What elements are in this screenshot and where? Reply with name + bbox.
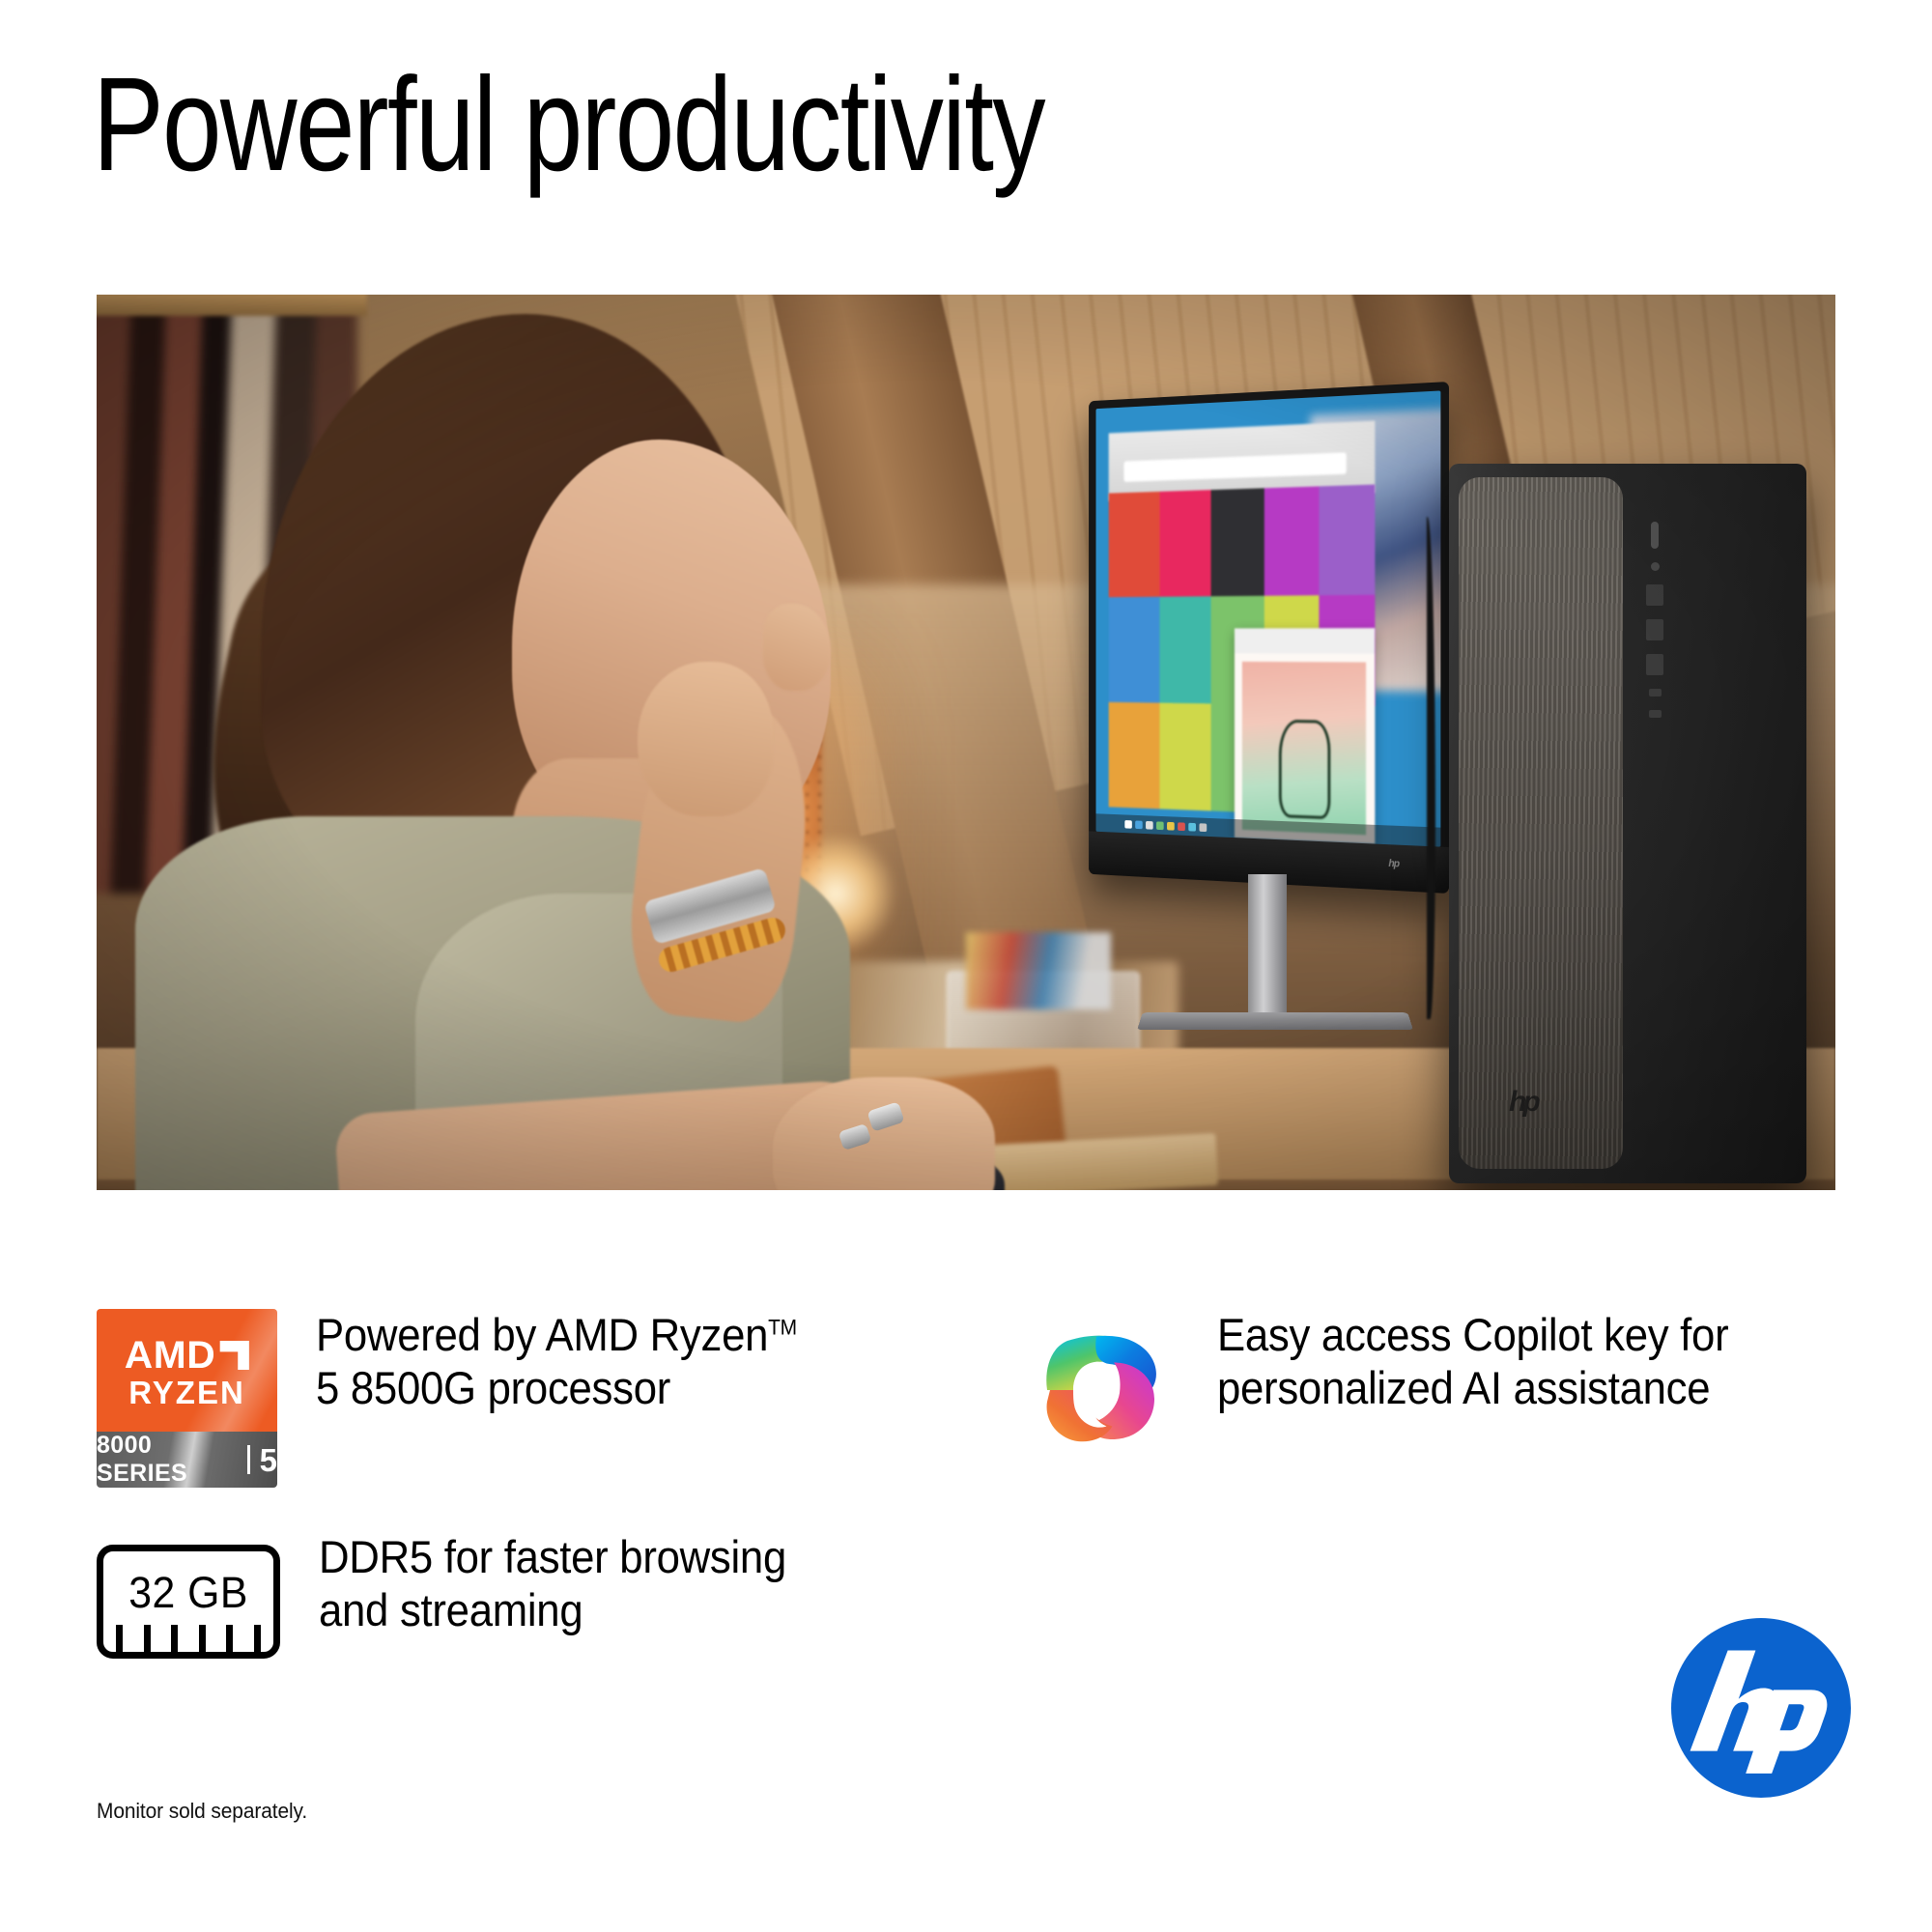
trademark-symbol: TM [768, 1315, 797, 1339]
power-button-icon [1651, 522, 1659, 549]
amd-series-text: 8000 SERIES [97, 1432, 238, 1488]
feature-copilot-key: Easy access Copilot key for personalized… [1030, 1309, 1767, 1460]
feature-copilot-text: Easy access Copilot key for personalized… [1217, 1309, 1728, 1415]
usb-port-icon [1646, 654, 1663, 675]
usb-c-port-icon [1649, 710, 1662, 718]
taskbar-icon [1167, 821, 1175, 830]
headphone-jack-icon [1651, 562, 1660, 571]
feature-copilot-line1: Easy access Copilot key for [1217, 1309, 1728, 1360]
hp-logo [1671, 1618, 1851, 1798]
desktop-tower: hp [1449, 464, 1806, 1183]
feature-amd-line1: Powered by AMD Ryzen [316, 1309, 768, 1360]
feature-copilot-line2: personalized AI assistance [1217, 1362, 1710, 1413]
color-tile [1159, 490, 1211, 597]
color-tile [1109, 492, 1159, 598]
tower-ports [1640, 522, 1669, 811]
amd-divider [247, 1445, 250, 1474]
feature-ddr5-memory: 32 GB DDR5 for faster browsing and strea… [97, 1531, 821, 1659]
tower-wood-panel: hp [1459, 477, 1623, 1169]
usb-port-icon [1646, 619, 1663, 640]
monitor-base [1137, 1012, 1413, 1030]
sd-card-slot-icon [1649, 689, 1662, 696]
color-tile [1159, 597, 1211, 704]
usb-port-icon [1646, 584, 1663, 606]
color-tile [1264, 486, 1319, 596]
taskbar-icon [1199, 823, 1207, 832]
color-tile [1159, 703, 1211, 811]
amd-brand-text: AMD [125, 1336, 215, 1375]
color-tile [1211, 488, 1264, 597]
amd-badge-top: AMD RYZEN [97, 1309, 277, 1432]
taskbar-icon [1188, 822, 1196, 831]
color-tile [1319, 484, 1375, 595]
amd-tier-text: 5 [260, 1444, 277, 1476]
copilot-logo-icon [1030, 1315, 1175, 1460]
clothes-rail [97, 295, 367, 316]
memory-pins [116, 1625, 261, 1652]
feature-ddr5-text: DDR5 for faster browsing and streaming [319, 1531, 786, 1637]
taskbar-icon [1156, 821, 1164, 830]
desk-tools [966, 932, 1111, 1009]
hand-at-chin [638, 662, 773, 816]
feature-amd-line2: 5 8500G processor [316, 1362, 670, 1413]
feature-amd-processor: AMD RYZEN 8000 SERIES 5 Powered by AMD R… [97, 1309, 833, 1488]
feature-ddr5-line2: and streaming [319, 1584, 582, 1635]
monitor: hp [1089, 382, 1449, 894]
taskbar-icon [1135, 820, 1143, 829]
color-tile [1109, 597, 1159, 703]
memory-module-icon: 32 GB [97, 1545, 280, 1659]
tower-hp-logo: hp [1509, 1086, 1577, 1124]
monitor-stand [1248, 874, 1287, 1019]
hp-logo-mark [1671, 1618, 1851, 1798]
taskbar-icon [1178, 822, 1185, 831]
amd-arrow-icon [219, 1341, 249, 1370]
taskbar-icon [1124, 820, 1132, 829]
feature-ddr5-line1: DDR5 for faster browsing [319, 1531, 786, 1582]
amd-ryzen-badge-icon: AMD RYZEN 8000 SERIES 5 [97, 1309, 277, 1488]
footer-disclaimer: Monitor sold separately. [97, 1799, 307, 1824]
feature-amd-text: Powered by AMD RyzenTM 5 8500G processor [316, 1309, 797, 1415]
memory-capacity-label: 32 GB [128, 1568, 248, 1618]
amd-wordmark: AMD [125, 1336, 249, 1375]
artwork-window [1235, 628, 1375, 843]
color-tile [1109, 702, 1159, 809]
amd-badge-bottom: 8000 SERIES 5 [97, 1432, 277, 1488]
hero-photo: hp hp [97, 295, 1835, 1190]
amd-ryzen-text: RYZEN [128, 1377, 245, 1408]
taskbar-icon [1146, 820, 1153, 829]
page-title: Powerful productivity [93, 58, 1044, 191]
monitor-screen [1095, 390, 1440, 846]
